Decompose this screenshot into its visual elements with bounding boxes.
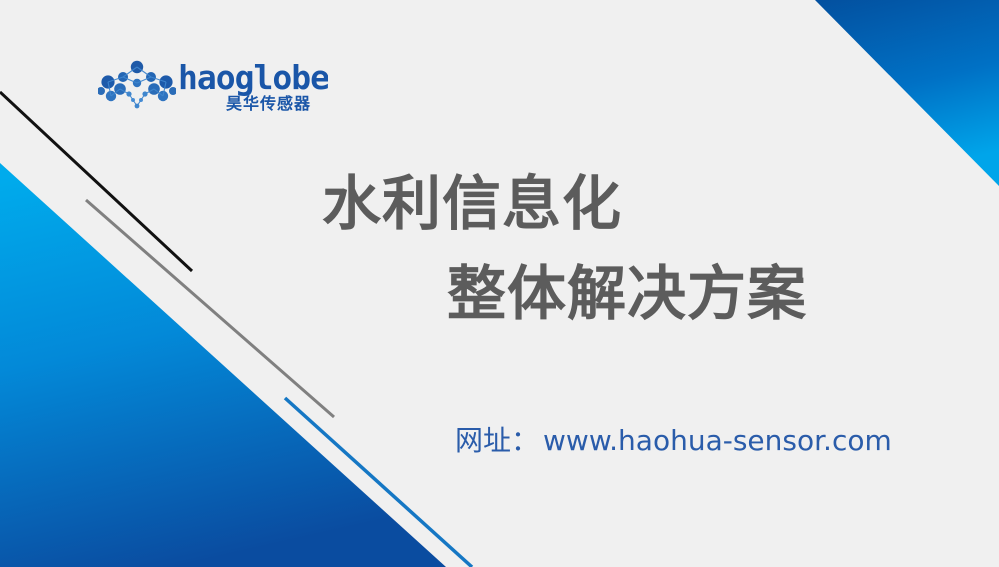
logo-chinese-name: 昊华传感器 <box>226 94 328 114</box>
company-logo: haoglobe 昊华传感器 <box>98 58 328 120</box>
slide-title-line-1: 水利信息化 <box>322 168 622 240</box>
molecule-network-icon <box>98 60 176 112</box>
haoglobe-wordmark: haoglobe <box>178 58 328 98</box>
presentation-cover-slide: haoglobe 昊华传感器 水利信息化 整体解决方案 网址：www.haohu… <box>0 0 999 567</box>
website-line: 网址：www.haohua-sensor.com <box>455 420 892 467</box>
website-label: 网址： <box>455 424 539 457</box>
website-url[interactable]: www.haohua-sensor.com <box>543 424 892 457</box>
slide-title-line-2: 整体解决方案 <box>447 258 807 330</box>
wordmark-text: haoglobe <box>178 58 328 97</box>
